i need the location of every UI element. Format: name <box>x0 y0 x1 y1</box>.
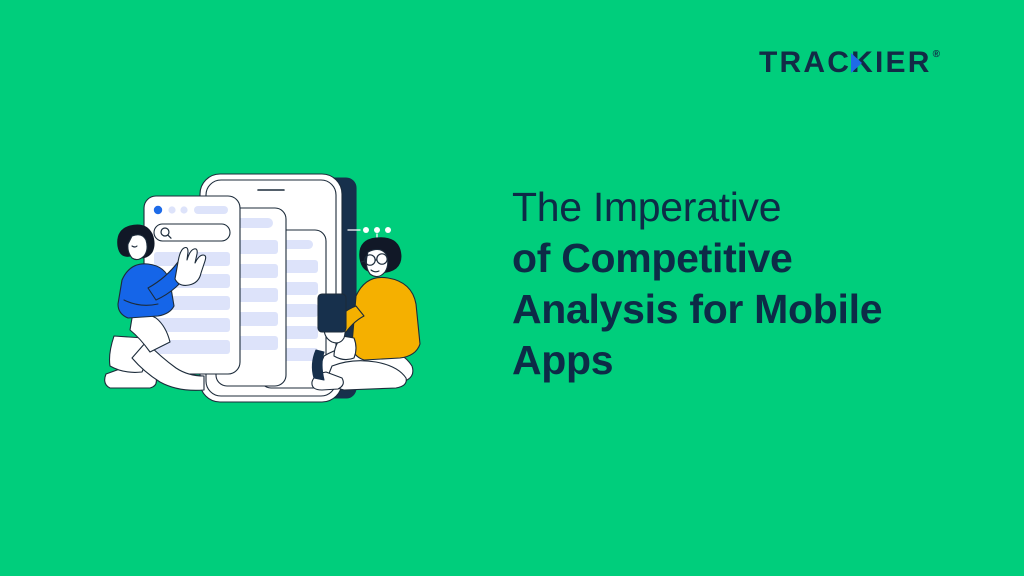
headline-line-2: of Competitive <box>512 233 982 284</box>
registered-trademark-icon: ® <box>933 50 940 60</box>
card-dot-active <box>154 206 162 214</box>
promo-banner: TRACKIER ® The Imperative of Competitive… <box>0 0 1024 576</box>
logo-wordmark: TRACKIER <box>759 48 932 78</box>
headline-line-4: Apps <box>512 335 982 386</box>
trackier-logo: TRACKIER ® <box>759 48 940 78</box>
card-dot-idle-2 <box>180 206 187 213</box>
headline-line-1: The Imperative <box>512 182 982 233</box>
person-right-shirt <box>352 277 420 360</box>
person-left-face <box>128 235 147 260</box>
search-field <box>154 224 230 241</box>
small-phone-icon <box>318 294 346 332</box>
headline-line-3: Analysis for Mobile <box>512 284 982 335</box>
card-dot-idle-1 <box>168 206 175 213</box>
hero-illustration <box>88 160 468 410</box>
page-title: The Imperative of Competitive Analysis f… <box>512 182 982 386</box>
